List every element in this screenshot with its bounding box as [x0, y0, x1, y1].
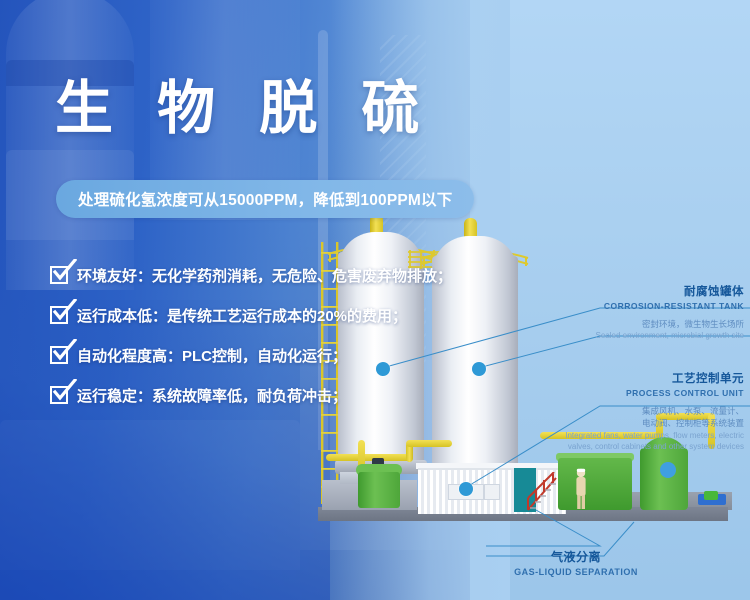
access-stair-icon: [526, 472, 560, 512]
list-item: 环境友好：无化学药剂消耗，无危险、危害废弃物排放；: [50, 255, 380, 295]
annotation-title-cn: 工艺控制单元: [494, 370, 744, 386]
annotation-gas-liquid-separation: 气液分离 GAS-LIQUID SEPARATION: [486, 548, 666, 577]
annotation-desc-cn: 密封环境，微生物生长场所: [514, 318, 744, 330]
callout-marker-tank-right[interactable]: [472, 362, 486, 376]
checkbox-checked-icon: [50, 386, 68, 404]
checkbox-checked-icon: [50, 346, 68, 364]
annotation-process-control-unit: 工艺控制单元 PROCESS CONTROL UNIT 集成风机、水泵、流量计、…: [494, 370, 744, 453]
callout-marker-control-unit[interactable]: [459, 482, 473, 496]
yellow-pipe-horizontal: [326, 454, 412, 461]
annotation-title-cn: 气液分离: [486, 548, 666, 565]
pump-skid-unit: [704, 491, 718, 500]
subtitle-banner: 处理硫化氢浓度可从15000PPM，降低到100PPM以下: [56, 180, 474, 218]
annotation-title-en: CORROSION-RESISTANT TANK: [514, 301, 744, 311]
checkbox-checked-icon: [50, 306, 68, 324]
annotation-desc-cn-line2: 电动阀、控制柜等系统装置: [494, 417, 744, 429]
annotation-desc-en: Sealed environment, microbial growth sit…: [514, 330, 744, 342]
list-item-label: 自动化程度高：PLC控制，自动化运行；: [77, 345, 347, 366]
annotation-desc-en-line2: valves, control cabinets and other syste…: [494, 441, 744, 453]
list-item: 自动化程度高：PLC控制，自动化运行；: [50, 335, 380, 375]
green-small-tank: [358, 472, 400, 508]
bg-tank-shape: [6, 0, 134, 290]
subtitle-text: 处理硫化氢浓度可从15000PPM，降低到100PPM以下: [78, 188, 452, 210]
green-reactor-box: [558, 458, 632, 510]
annotation-desc-cn-line1: 集成风机、水泵、流量计、: [494, 405, 744, 417]
list-item: 运行稳定：系统故障率低，耐负荷冲击；: [50, 375, 380, 415]
list-item-label: 环境友好：无化学药剂消耗，无危险、危害废弃物排放；: [77, 265, 452, 286]
page-title: 生 物 脱 硫: [55, 80, 433, 138]
annotation-desc-en-line1: Integrated fans, water pumps, flow meter…: [494, 430, 744, 442]
list-item: 运行成本低：是传统工艺运行成本的20%的费用；: [50, 295, 380, 335]
promo-banner: 生 物 脱 硫 处理硫化氢浓度可从15000PPM，降低到100PPM以下 环境…: [0, 0, 750, 600]
container-window-small: [484, 484, 500, 500]
checkbox-checked-icon: [50, 266, 68, 284]
list-item-label: 运行稳定：系统故障率低，耐负荷冲击；: [77, 385, 347, 406]
annotation-title-cn: 耐腐蚀罐体: [514, 283, 744, 299]
operator-figure-icon: [574, 468, 588, 510]
green-separator-vessel: [640, 448, 688, 510]
annotation-title-en: GAS-LIQUID SEPARATION: [486, 567, 666, 577]
list-item-label: 运行成本低：是传统工艺运行成本的20%的费用；: [77, 305, 407, 326]
vessel-gauge-icon: [660, 462, 676, 478]
annotation-corrosion-resistant-tank: 耐腐蚀罐体 CORROSION-RESISTANT TANK 密封环境，微生物生…: [514, 283, 744, 342]
annotation-title-en: PROCESS CONTROL UNIT: [494, 388, 744, 398]
yellow-pipe-branch: [406, 440, 452, 447]
feature-list: 环境友好：无化学药剂消耗，无危险、危害废弃物排放； 运行成本低：是传统工艺运行成…: [50, 255, 380, 415]
